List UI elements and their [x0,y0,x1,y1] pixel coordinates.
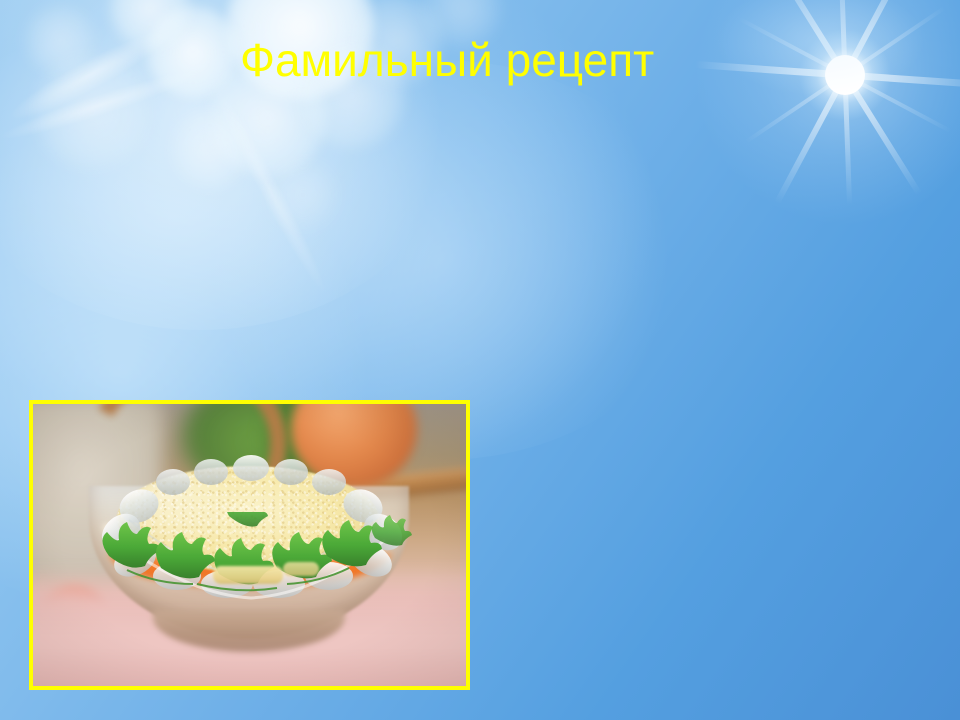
slide-title: Фамильный рецепт [240,27,840,93]
photo-backdrop-onion [291,404,417,488]
photo-backdrop-tomato [407,430,466,506]
parsley-garnish [87,512,417,598]
glass-rim-svg [77,448,425,608]
photo-frame[interactable] [29,400,470,690]
bokeh-circle-8 [26,6,94,74]
photo-backdrop-greens-2 [269,404,389,494]
glass-bowl-base [153,610,345,652]
photo-backdrop-stone [33,404,163,584]
egg-yolk-texture [117,466,379,572]
carrot-layer [107,550,393,590]
corn-garnish-2 [283,562,319,576]
photo-soft-focus-overlay [33,404,466,686]
bokeh-circle-6 [172,112,248,188]
photo-backdrop-greens [183,404,333,496]
bokeh-circle-7 [36,56,148,168]
parsley-svg [87,512,417,598]
mayonnaise-layer [103,524,397,562]
photo-tomato-stem [72,634,124,675]
photo-tablecloth [33,566,466,686]
glass-rim-petals [77,448,425,608]
salad-photo [33,404,466,686]
light-streak-left [0,28,244,181]
bokeh-circle-3 [110,0,190,48]
photo-backdrop [33,404,466,686]
bokeh-circle-2 [147,6,239,98]
glass-bowl-body [89,486,409,638]
bokeh-circle-11 [268,160,338,230]
grated-egg-yolk-top [117,466,379,572]
photo-tomato-bottom-left [39,586,109,658]
photo-backdrop-basket-handle [64,404,308,564]
photo-backdrop-wood-stick [183,466,466,519]
photo-warm-cast [33,404,466,686]
presentation-slide: Фамильный рецепт [0,0,960,720]
light-streak-upper-left [0,0,217,171]
corn-garnish [213,566,283,584]
